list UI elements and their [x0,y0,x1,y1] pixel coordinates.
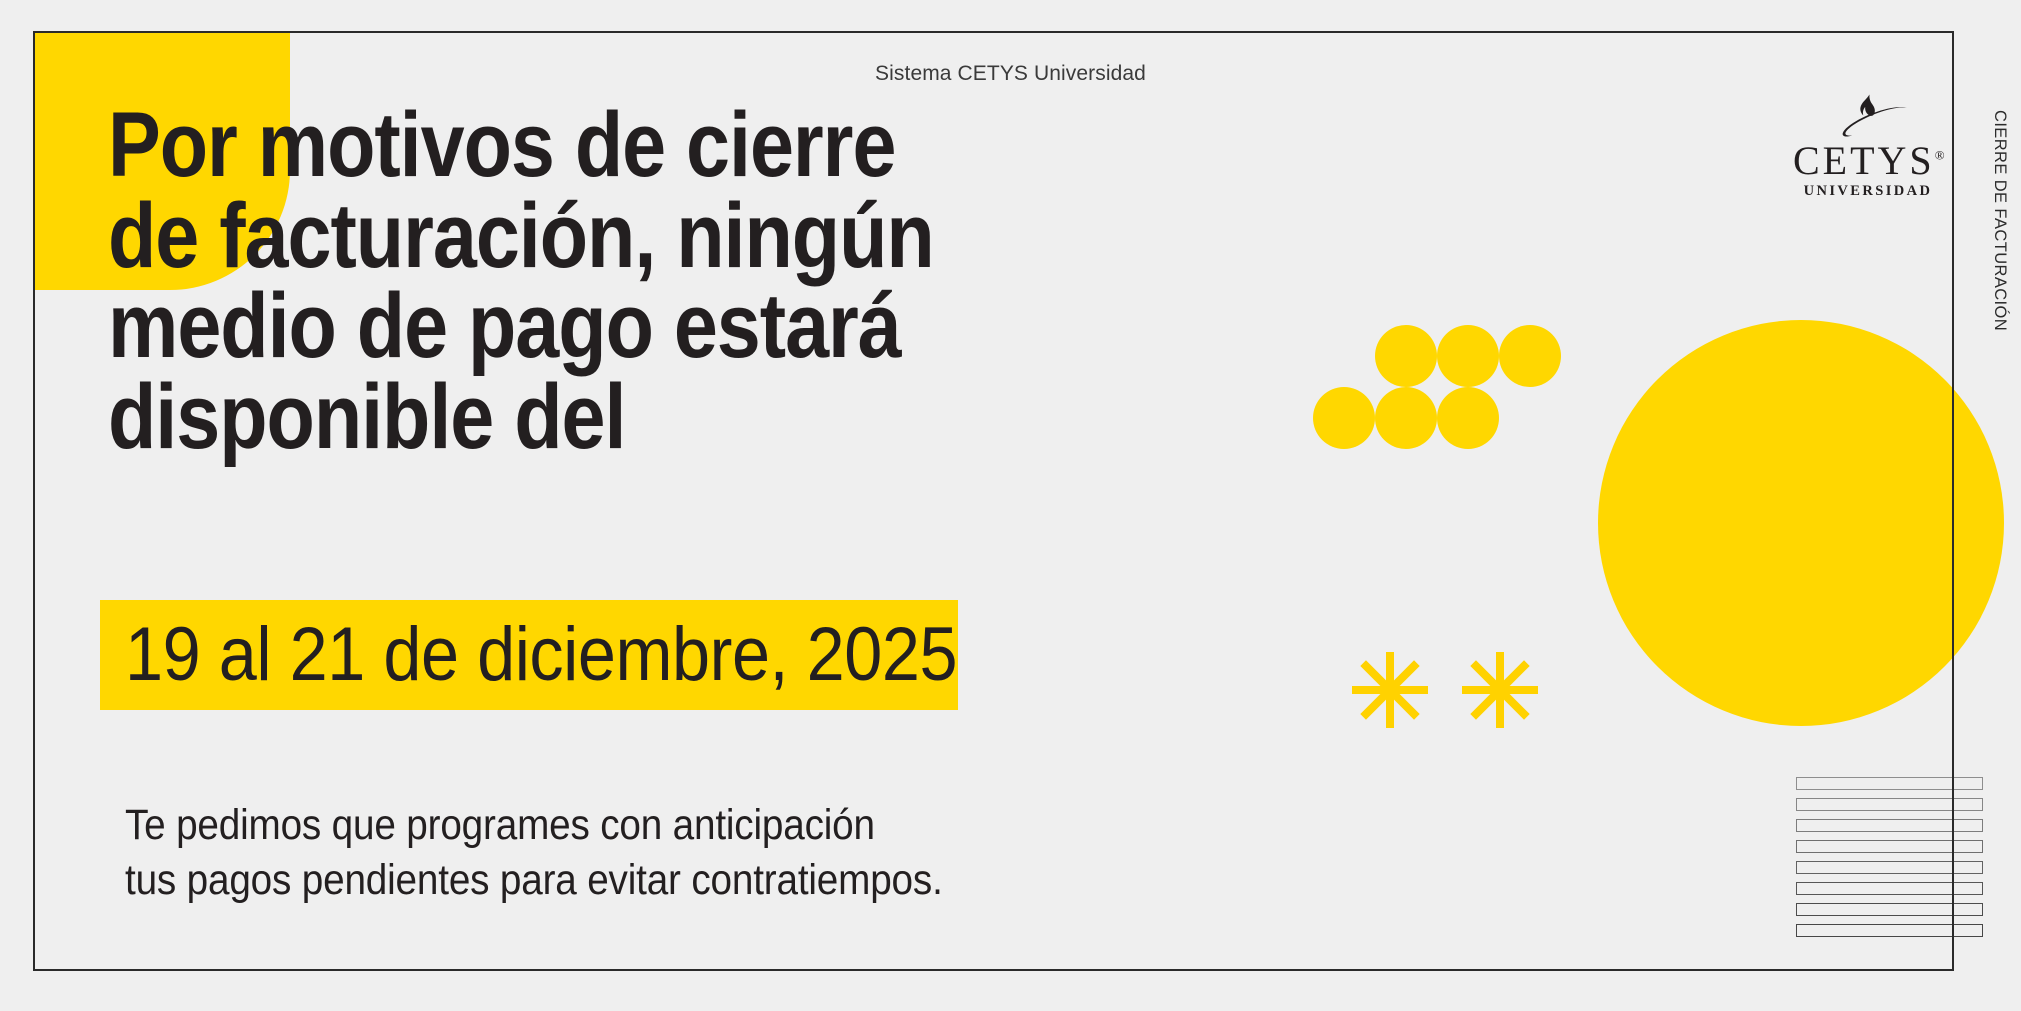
yellow-dot [1313,387,1375,449]
body-copy-line-2: tus pagos pendientes para evitar contrat… [125,853,943,908]
bar-line [1796,861,1983,874]
asterisk-icon [1462,652,1538,728]
large-yellow-circle-shape [1598,320,2004,726]
yellow-dots-cluster [1310,325,1610,465]
bar-line [1796,840,1983,853]
cetys-logo: CETYS® UNIVERSIDAD [1793,92,1943,200]
bar-line [1796,777,1983,790]
headline-line-1: Por motivos de cierre [108,100,934,191]
yellow-dot [1499,325,1561,387]
bar-line [1796,882,1983,895]
cetys-wordmark: CETYS® [1793,142,1943,180]
cetys-wordmark-text: CETYS [1793,138,1935,183]
bar-line [1796,819,1983,832]
headline: Por motivos de cierre de facturación, ni… [108,100,934,462]
bar-line [1796,903,1983,916]
date-text: 19 al 21 de diciembre, 2025 [125,608,957,702]
headline-line-4: disponible del [108,372,934,463]
headline-line-2: de facturación, ningún [108,191,934,282]
bar-line [1796,798,1983,811]
yellow-dot [1375,325,1437,387]
body-copy: Te pedimos que programes con anticipació… [125,798,943,908]
asterisk-icon [1352,652,1428,728]
yellow-dot [1437,387,1499,449]
cetys-flame-swoosh-icon [1813,92,1923,140]
vertical-side-label: CIERRE DE FACTURACIÓN [1990,110,2009,331]
poster-canvas: Sistema CETYS Universidad CETYS® UNIVERS… [0,0,2021,1011]
asterisk-group [1352,652,1538,728]
cetys-subtitle: UNIVERSIDAD [1793,183,1943,200]
headline-line-3: medio de pago estará [108,281,934,372]
body-copy-line-1: Te pedimos que programes con anticipació… [125,798,943,853]
yellow-dot [1375,387,1437,449]
yellow-dot [1437,325,1499,387]
eyebrow-label: Sistema CETYS Universidad [0,62,2021,86]
registered-mark: ® [1935,148,1948,163]
bar-line [1796,924,1983,937]
stacked-bars-motif [1796,777,1983,945]
